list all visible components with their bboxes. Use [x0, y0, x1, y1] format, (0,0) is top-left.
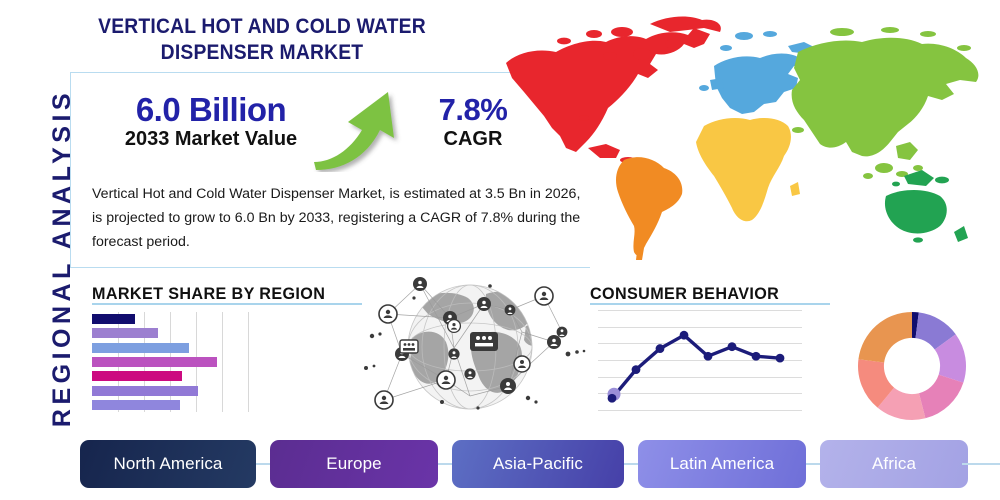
donut-segment	[919, 375, 963, 419]
region-button-europe[interactable]: Europe	[270, 440, 438, 488]
bar-row	[92, 357, 217, 367]
global-network-globe-icon	[358, 276, 588, 418]
bar	[92, 314, 135, 324]
region-connector-line	[438, 463, 452, 465]
bar-row	[92, 314, 135, 324]
donut-segment	[858, 312, 912, 362]
line-series	[598, 306, 802, 414]
infographic-stage: REGIONAL ANALYSIS VERTICAL HOT AND COLD …	[0, 0, 1000, 500]
line-marker	[656, 344, 665, 353]
bar-gridline	[222, 312, 223, 412]
line-marker	[752, 352, 761, 361]
market-value-label: 2033 Market Value	[96, 126, 326, 152]
region-connector-line	[624, 463, 638, 465]
line-marker	[680, 331, 689, 340]
world-map-icon	[498, 8, 998, 276]
bar-row	[92, 386, 198, 396]
region-button-bar: North AmericaEuropeAsia-PacificLatin Ame…	[80, 440, 990, 488]
region-button-africa[interactable]: Africa	[820, 440, 968, 488]
region-button-north-america[interactable]: North America	[80, 440, 256, 488]
donut-chart	[852, 308, 972, 424]
market-value-number: 6.0 Billion	[96, 92, 326, 128]
market-value-stat: 6.0 Billion 2033 Market Value	[96, 92, 326, 152]
bar	[92, 386, 198, 396]
consumer-behavior-heading: CONSUMER BEHAVIOR	[590, 284, 779, 304]
region-connector-line	[806, 463, 820, 465]
bar-row	[92, 400, 180, 410]
market-share-heading: MARKET SHARE BY REGION	[92, 284, 325, 304]
page-title: VERTICAL HOT AND COLD WATER DISPENSER MA…	[69, 14, 455, 66]
market-share-rule	[92, 303, 362, 305]
region-bar-trailing-line	[962, 463, 1000, 465]
bar	[92, 328, 158, 338]
market-share-bar-chart	[92, 312, 310, 412]
bar-gridline	[248, 312, 249, 412]
donut-segments	[852, 308, 972, 424]
bar-row	[92, 328, 158, 338]
bar	[92, 371, 182, 381]
line-marker	[704, 352, 713, 361]
line-marker	[776, 354, 785, 363]
bar-row	[92, 343, 189, 353]
bar	[92, 357, 217, 367]
bar-row	[92, 371, 182, 381]
bar	[92, 343, 189, 353]
consumer-behavior-line-chart	[598, 306, 802, 414]
line-marker	[632, 365, 641, 374]
region-button-latin-america[interactable]: Latin America	[638, 440, 806, 488]
bar	[92, 400, 180, 410]
line-marker	[728, 342, 737, 351]
region-button-asia-pacific[interactable]: Asia-Pacific	[452, 440, 624, 488]
growth-arrow-icon	[310, 86, 410, 172]
line-marker	[608, 394, 617, 403]
consumer-behavior-rule	[590, 303, 830, 305]
region-connector-line	[256, 463, 270, 465]
